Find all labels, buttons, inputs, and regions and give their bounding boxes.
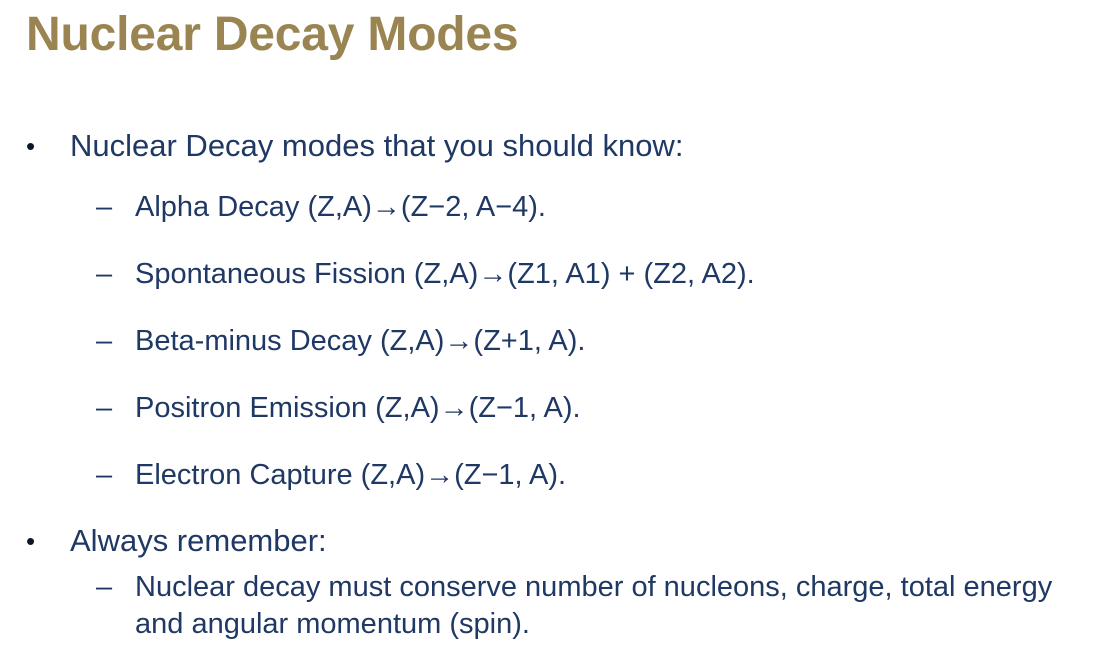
list-item-label: Always remember: bbox=[70, 513, 327, 569]
list-item-label: Nuclear Decay modes that you should know… bbox=[70, 118, 683, 174]
list-item: – Nuclear decay must conserve number of … bbox=[0, 569, 1118, 643]
list-item: – Alpha Decay (Z,A)→(Z−2, A−4). bbox=[0, 174, 1118, 241]
list-item-label: Electron Capture (Z,A)→(Z−1, A). bbox=[135, 442, 566, 509]
list-item: • Always remember: bbox=[0, 513, 1118, 569]
dash-icon: – bbox=[96, 174, 120, 241]
bullet-dot-icon: • bbox=[26, 118, 48, 174]
list-item-label: Beta-minus Decay (Z,A)→(Z+1, A). bbox=[135, 308, 585, 375]
list-item: – Spontaneous Fission (Z,A)→(Z1, A1) + (… bbox=[0, 241, 1118, 308]
dash-icon: – bbox=[96, 442, 120, 509]
bullet-list: • Nuclear Decay modes that you should kn… bbox=[0, 118, 1118, 643]
dash-icon: – bbox=[96, 241, 120, 308]
page-title: Nuclear Decay Modes bbox=[26, 6, 1086, 64]
list-item-label: Nuclear decay must conserve number of nu… bbox=[135, 569, 1100, 643]
dash-icon: – bbox=[96, 375, 120, 442]
slide: Nuclear Decay Modes • Nuclear Decay mode… bbox=[0, 0, 1118, 663]
dash-icon: – bbox=[96, 569, 120, 606]
bullet-dot-icon: • bbox=[26, 513, 48, 569]
list-item-label: Alpha Decay (Z,A)→(Z−2, A−4). bbox=[135, 174, 546, 241]
list-item: – Positron Emission (Z,A)→(Z−1, A). bbox=[0, 375, 1118, 442]
list-item: – Beta-minus Decay (Z,A)→(Z+1, A). bbox=[0, 308, 1118, 375]
dash-icon: – bbox=[96, 308, 120, 375]
list-item-label: Positron Emission (Z,A)→(Z−1, A). bbox=[135, 375, 581, 442]
list-item: – Electron Capture (Z,A)→(Z−1, A). bbox=[0, 442, 1118, 509]
list-item-label: Spontaneous Fission (Z,A)→(Z1, A1) + (Z2… bbox=[135, 241, 755, 308]
list-item: • Nuclear Decay modes that you should kn… bbox=[0, 118, 1118, 174]
